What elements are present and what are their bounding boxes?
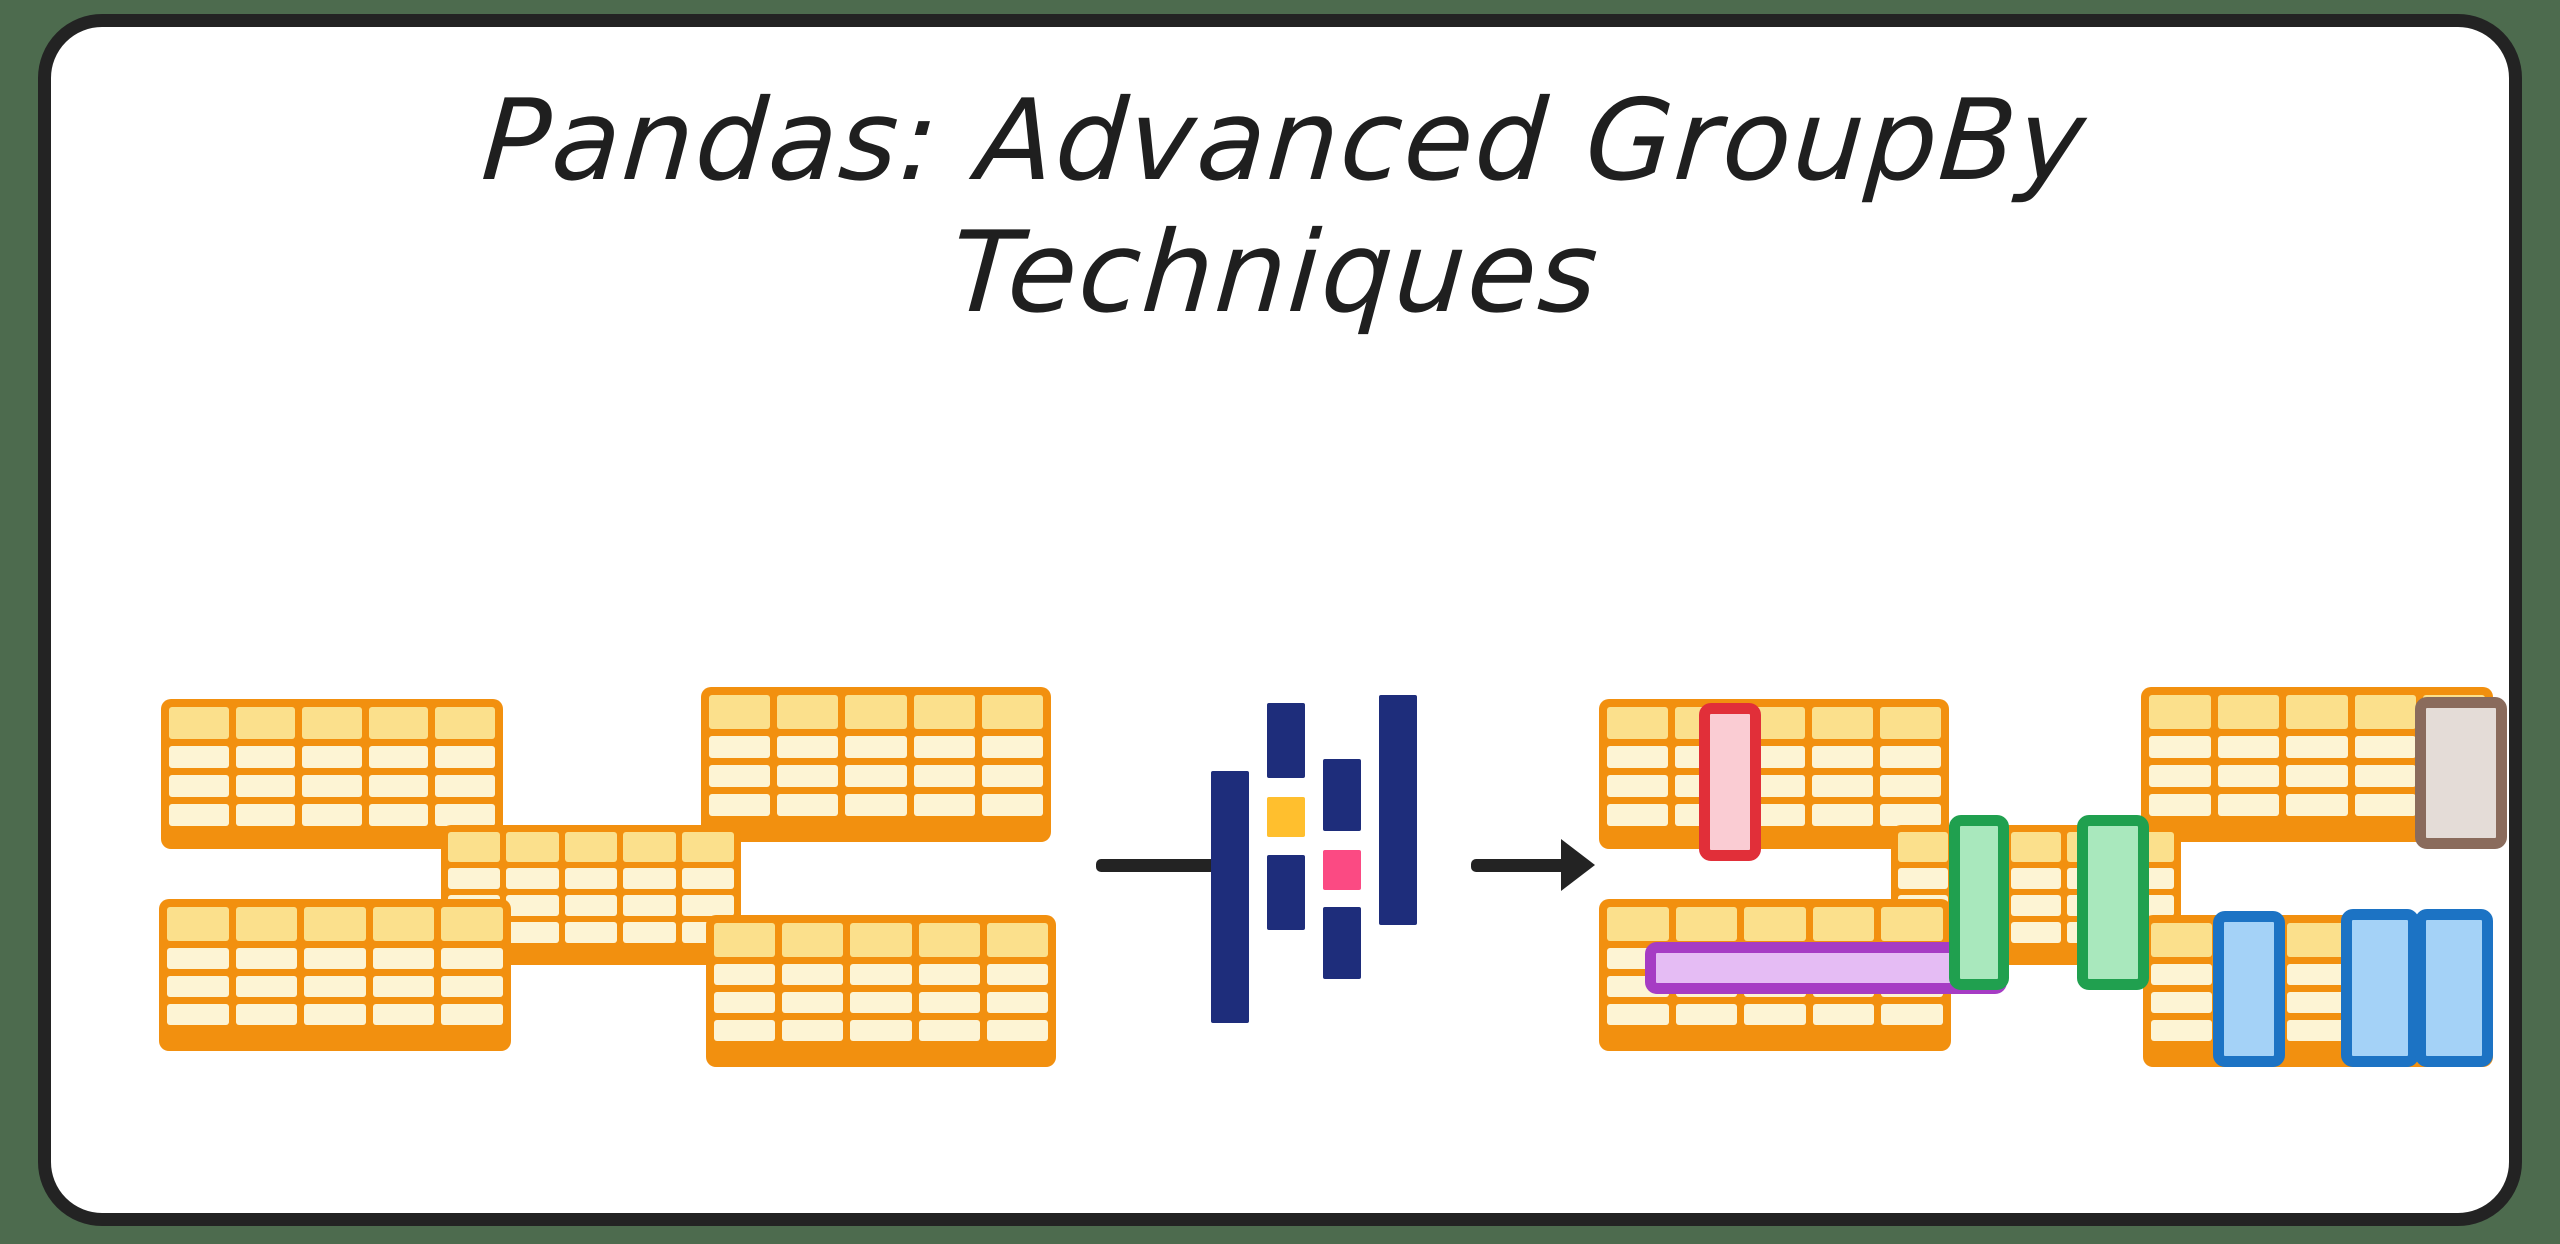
table-header-cell bbox=[2218, 695, 2280, 729]
table-cell bbox=[435, 775, 495, 797]
table-cell bbox=[919, 964, 980, 985]
table-row bbox=[167, 948, 503, 969]
table-cell bbox=[2355, 765, 2417, 787]
table-header-cell bbox=[2355, 695, 2417, 729]
table-cell bbox=[777, 794, 838, 816]
table-cell bbox=[2287, 992, 2348, 1013]
table-cell bbox=[565, 895, 617, 916]
table-cell bbox=[2355, 794, 2417, 816]
table-row bbox=[169, 804, 495, 826]
table-cell bbox=[1898, 868, 1948, 889]
table-header-cell bbox=[709, 695, 770, 729]
table-cell bbox=[2149, 794, 2211, 816]
table-header-row bbox=[1607, 707, 1941, 739]
table-cell bbox=[845, 736, 906, 758]
pandas-bar-pink bbox=[1323, 850, 1361, 890]
table-row bbox=[169, 746, 495, 768]
table-cell bbox=[987, 964, 1048, 985]
table-cell bbox=[506, 868, 558, 889]
table-cell bbox=[2287, 1020, 2348, 1041]
table-header-cell bbox=[373, 907, 435, 941]
table-cell bbox=[1744, 1004, 1806, 1025]
table-cell bbox=[369, 775, 429, 797]
highlight-blue-column-1[interactable] bbox=[2213, 911, 2285, 1067]
table-cell bbox=[982, 736, 1043, 758]
table-cell bbox=[2151, 1020, 2212, 1041]
table-cell bbox=[169, 775, 229, 797]
table-header-cell bbox=[169, 707, 229, 739]
table-cell bbox=[709, 794, 770, 816]
pandas-bar-navy-6 bbox=[1379, 695, 1417, 925]
table-cell bbox=[2355, 736, 2417, 758]
table-cell bbox=[714, 1020, 775, 1041]
table-header-cell bbox=[441, 907, 503, 941]
table-header-cell bbox=[506, 832, 558, 862]
table-header-row bbox=[1607, 907, 1943, 941]
table-row bbox=[1607, 804, 1941, 826]
table-cell bbox=[373, 948, 435, 969]
table-cell bbox=[1676, 1004, 1738, 1025]
arrow-in bbox=[1096, 859, 1216, 872]
table-header-cell bbox=[914, 695, 975, 729]
table-cell bbox=[1607, 804, 1668, 826]
table-cell bbox=[919, 992, 980, 1013]
table-cell bbox=[441, 976, 503, 997]
arrow-out bbox=[1471, 859, 1567, 872]
table-cell bbox=[709, 765, 770, 787]
table-cell bbox=[1607, 775, 1668, 797]
table-cell bbox=[777, 736, 838, 758]
table-header-cell bbox=[435, 707, 495, 739]
table-header-cell bbox=[2287, 923, 2348, 957]
table-header-row bbox=[169, 707, 495, 739]
table-cell bbox=[2218, 765, 2280, 787]
table-header-cell bbox=[1880, 707, 1941, 739]
table-header-cell bbox=[1813, 907, 1875, 941]
diagram-stage bbox=[51, 27, 2522, 1226]
table-cell bbox=[623, 922, 675, 943]
table-row bbox=[1607, 746, 1941, 768]
table-header-cell bbox=[236, 707, 296, 739]
table-row bbox=[709, 794, 1043, 816]
table-cell bbox=[987, 1020, 1048, 1041]
table-header-row bbox=[167, 907, 503, 941]
table-header-cell bbox=[1812, 707, 1873, 739]
table-cell bbox=[1607, 1004, 1669, 1025]
pandas-bar-yellow bbox=[1267, 797, 1305, 837]
table-cell bbox=[850, 992, 911, 1013]
table-cell bbox=[506, 922, 558, 943]
table-cell bbox=[2218, 736, 2280, 758]
arrow-out-head-icon bbox=[1561, 839, 1595, 891]
table-cell bbox=[169, 746, 229, 768]
table-header-cell bbox=[2149, 695, 2211, 729]
table-cell bbox=[914, 794, 975, 816]
table-header-cell bbox=[919, 923, 980, 957]
table-cell bbox=[236, 775, 296, 797]
highlight-green-column-1[interactable] bbox=[1949, 815, 2009, 990]
table-cell bbox=[709, 736, 770, 758]
table-row bbox=[714, 992, 1048, 1013]
table-cell bbox=[506, 895, 558, 916]
table-cell bbox=[302, 804, 362, 826]
pandas-bar-navy-2 bbox=[1267, 703, 1305, 778]
table-cell bbox=[369, 804, 429, 826]
table-cell bbox=[845, 765, 906, 787]
table-cell bbox=[714, 964, 775, 985]
table-cell bbox=[236, 1004, 298, 1025]
table-cell bbox=[304, 948, 366, 969]
table-cell bbox=[302, 775, 362, 797]
table-header-row bbox=[709, 695, 1043, 729]
pandas-logo bbox=[1211, 695, 1481, 1025]
table-header-cell bbox=[565, 832, 617, 862]
table-cell bbox=[2286, 765, 2348, 787]
table-cell bbox=[565, 868, 617, 889]
left-table-bottom-left bbox=[159, 899, 511, 1051]
table-header-cell bbox=[1607, 707, 1668, 739]
table-cell bbox=[236, 746, 296, 768]
highlight-red-column[interactable] bbox=[1699, 703, 1761, 861]
table-cell bbox=[2286, 736, 2348, 758]
table-header-cell bbox=[1607, 907, 1669, 941]
table-row bbox=[714, 964, 1048, 985]
table-cell bbox=[565, 922, 617, 943]
table-cell bbox=[435, 746, 495, 768]
table-cell bbox=[714, 992, 775, 1013]
table-cell bbox=[1812, 804, 1873, 826]
table-row bbox=[167, 976, 503, 997]
table-cell bbox=[369, 746, 429, 768]
highlight-blue-column-2[interactable] bbox=[2341, 909, 2419, 1067]
table-header-cell bbox=[167, 907, 229, 941]
highlight-brown-column[interactable] bbox=[2415, 697, 2507, 849]
table-header-cell bbox=[1898, 832, 1948, 862]
table-row bbox=[448, 868, 734, 889]
table-cell bbox=[448, 868, 500, 889]
table-header-cell bbox=[236, 907, 298, 941]
table-cell bbox=[1607, 746, 1668, 768]
table-cell bbox=[682, 895, 734, 916]
table-cell bbox=[2011, 922, 2061, 943]
table-cell bbox=[782, 1020, 843, 1041]
table-cell bbox=[782, 992, 843, 1013]
table-header-cell bbox=[2011, 832, 2061, 862]
pandas-bar-navy-1 bbox=[1211, 771, 1249, 1023]
table-header-cell bbox=[982, 695, 1043, 729]
table-cell bbox=[850, 1020, 911, 1041]
table-header-cell bbox=[987, 923, 1048, 957]
table-cell bbox=[167, 1004, 229, 1025]
table-cell bbox=[167, 948, 229, 969]
pandas-bar-navy-3 bbox=[1267, 855, 1305, 930]
table-cell bbox=[2286, 794, 2348, 816]
table-cell bbox=[845, 794, 906, 816]
table-cell bbox=[1812, 775, 1873, 797]
table-cell bbox=[373, 1004, 435, 1025]
pandas-bar-navy-5 bbox=[1323, 907, 1361, 979]
table-cell bbox=[441, 948, 503, 969]
highlight-green-column-2[interactable] bbox=[2077, 815, 2149, 990]
table-cell bbox=[236, 804, 296, 826]
left-table-top-right bbox=[701, 687, 1051, 842]
table-header-cell bbox=[2151, 923, 2212, 957]
table-cell bbox=[1880, 804, 1941, 826]
table-cell bbox=[782, 964, 843, 985]
table-header-row bbox=[714, 923, 1048, 957]
table-cell bbox=[1881, 1004, 1943, 1025]
table-header-cell bbox=[1676, 907, 1738, 941]
whiteboard-card: Pandas: Advanced GroupBy Techniques bbox=[38, 14, 2522, 1226]
table-header-cell bbox=[304, 907, 366, 941]
table-cell bbox=[2151, 992, 2212, 1013]
table-cell bbox=[1880, 746, 1941, 768]
pandas-bar-navy-4 bbox=[1323, 759, 1361, 831]
table-header-cell bbox=[1881, 907, 1943, 941]
table-cell bbox=[167, 976, 229, 997]
table-cell bbox=[1812, 746, 1873, 768]
table-cell bbox=[441, 1004, 503, 1025]
table-cell bbox=[777, 765, 838, 787]
table-cell bbox=[623, 895, 675, 916]
table-row bbox=[169, 775, 495, 797]
table-cell bbox=[850, 964, 911, 985]
table-row bbox=[709, 765, 1043, 787]
table-header-cell bbox=[448, 832, 500, 862]
left-table-bottom-right bbox=[706, 915, 1056, 1067]
table-cell bbox=[2287, 964, 2348, 985]
table-header-row bbox=[448, 832, 734, 862]
table-cell bbox=[987, 992, 1048, 1013]
table-cell bbox=[1880, 775, 1941, 797]
table-cell bbox=[982, 765, 1043, 787]
table-cell bbox=[914, 765, 975, 787]
table-cell bbox=[236, 948, 298, 969]
table-cell bbox=[1813, 1004, 1875, 1025]
table-cell bbox=[169, 804, 229, 826]
table-cell bbox=[623, 868, 675, 889]
highlight-blue-column-3[interactable] bbox=[2415, 909, 2493, 1067]
table-header-cell bbox=[714, 923, 775, 957]
table-cell bbox=[435, 804, 495, 826]
table-header-cell bbox=[682, 832, 734, 862]
table-cell bbox=[2149, 736, 2211, 758]
table-row bbox=[714, 1020, 1048, 1041]
table-cell bbox=[236, 976, 298, 997]
table-row bbox=[709, 736, 1043, 758]
table-header-cell bbox=[623, 832, 675, 862]
table-cell bbox=[2149, 765, 2211, 787]
table-cell bbox=[919, 1020, 980, 1041]
table-cell bbox=[914, 736, 975, 758]
table-header-cell bbox=[302, 707, 362, 739]
table-row bbox=[1607, 775, 1941, 797]
table-cell bbox=[302, 746, 362, 768]
table-cell bbox=[304, 1004, 366, 1025]
table-cell bbox=[982, 794, 1043, 816]
table-cell bbox=[304, 976, 366, 997]
table-header-cell bbox=[1744, 907, 1806, 941]
table-header-cell bbox=[845, 695, 906, 729]
table-cell bbox=[2011, 895, 2061, 916]
table-cell bbox=[682, 868, 734, 889]
table-cell bbox=[2218, 794, 2280, 816]
table-cell bbox=[2151, 964, 2212, 985]
table-cell bbox=[373, 976, 435, 997]
table-cell bbox=[2011, 868, 2061, 889]
table-row bbox=[167, 1004, 503, 1025]
table-header-cell bbox=[850, 923, 911, 957]
table-header-cell bbox=[777, 695, 838, 729]
table-row bbox=[1607, 1004, 1943, 1025]
table-header-cell bbox=[782, 923, 843, 957]
table-header-cell bbox=[2286, 695, 2348, 729]
table-header-cell bbox=[369, 707, 429, 739]
